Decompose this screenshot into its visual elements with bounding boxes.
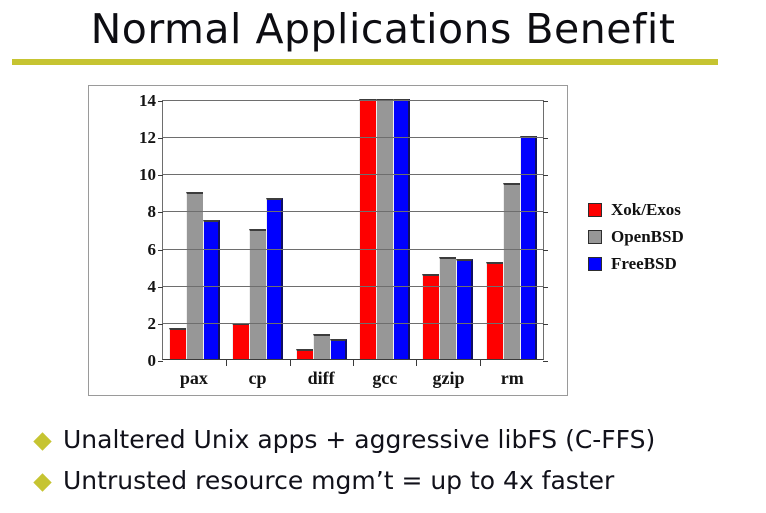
legend-item-freebsd[interactable]: FreeBSD	[588, 250, 763, 277]
bullet-list: Unaltered Unix apps + aggressive libFS (…	[36, 419, 756, 501]
chart-bar-slot	[359, 101, 376, 359]
chart-y-tick-mark	[158, 175, 163, 176]
chart-y-tick-mark-right	[543, 324, 548, 325]
chart-bar-slot	[520, 101, 537, 359]
chart-y-tick-label: 2	[148, 314, 157, 334]
chart-gridline	[163, 100, 543, 101]
chart-y-tick-mark	[158, 324, 163, 325]
title-block: Normal Applications Benefit	[0, 2, 766, 72]
chart-x-label-gcc: gcc	[353, 368, 417, 389]
chart-x-tick-mark	[226, 359, 227, 366]
chart-bar-group-rm	[480, 101, 543, 359]
chart-bar-pax-openbsd[interactable]	[186, 192, 203, 359]
chart-frame: 02468101214 paxcpdiffgccgziprm	[88, 85, 568, 396]
chart-y-tick-mark	[158, 287, 163, 288]
chart-bar-groups	[163, 101, 543, 359]
chart-bar-cp-freebsd[interactable]	[266, 198, 283, 359]
chart-y-tick-mark-right	[543, 138, 548, 139]
chart-x-label-gzip: gzip	[417, 368, 481, 389]
chart-legend: Xok/ExosOpenBSDFreeBSD	[588, 196, 763, 277]
chart-gridline	[163, 286, 543, 287]
legend-swatch-xok-exos	[588, 203, 602, 217]
chart-x-tick-mark	[353, 359, 354, 366]
chart-x-label-pax: pax	[162, 368, 226, 389]
chart-bar-group-diff	[290, 101, 353, 359]
chart-bar-gzip-openbsd[interactable]	[439, 257, 456, 359]
chart-y-tick-mark	[158, 250, 163, 251]
chart-bar-gzip-freebsd[interactable]	[456, 259, 473, 359]
chart-x-label-cp: cp	[226, 368, 290, 389]
chart-bar-slot	[313, 101, 330, 359]
chart-y-tick-label: 14	[139, 91, 156, 111]
page-title: Normal Applications Benefit	[0, 2, 766, 56]
chart-plot-area: 02468101214	[162, 100, 544, 360]
chart-bar-diff-freebsd[interactable]	[330, 339, 347, 359]
chart-bar-pax-xok-exos[interactable]	[169, 328, 186, 359]
chart-bar-diff-openbsd[interactable]	[313, 334, 330, 359]
chart-bar-slot	[486, 101, 503, 359]
legend-item-label: Xok/Exos	[611, 200, 681, 220]
chart-bar-group-cp	[226, 101, 289, 359]
chart-bar-group-gzip	[416, 101, 479, 359]
chart-bar-slot	[203, 101, 220, 359]
chart-bar-rm-openbsd[interactable]	[503, 183, 520, 359]
chart-bar-slot	[249, 101, 266, 359]
chart-y-tick-mark	[158, 101, 163, 102]
chart-x-tick-mark	[480, 359, 481, 366]
chart-x-tick-mark	[290, 359, 291, 366]
legend-item-xok-exos[interactable]: Xok/Exos	[588, 196, 763, 223]
chart-y-tick-mark-right	[543, 361, 548, 362]
chart-y-tick-label: 6	[148, 240, 157, 260]
chart-bar-slot	[266, 101, 283, 359]
chart-bar-cp-xok-exos[interactable]	[232, 323, 249, 359]
chart-y-tick-mark-right	[543, 250, 548, 251]
chart-y-tick-label: 8	[148, 202, 157, 222]
title-underline-rule	[12, 59, 718, 65]
chart-x-tick-mark	[416, 359, 417, 366]
legend-item-openbsd[interactable]: OpenBSD	[588, 223, 763, 250]
chart-gridline	[163, 137, 543, 138]
chart-gridline	[163, 323, 543, 324]
chart-y-tick-label: 12	[139, 128, 156, 148]
chart-y-tick-mark	[158, 138, 163, 139]
chart-bar-slot	[393, 101, 410, 359]
chart-gridline	[163, 211, 543, 212]
chart-y-tick-label: 10	[139, 165, 156, 185]
chart-bar-slot	[439, 101, 456, 359]
chart-bar-slot	[186, 101, 203, 359]
chart-y-tick-mark-right	[543, 101, 548, 102]
chart-bar-slot	[503, 101, 520, 359]
chart-bar-group-gcc	[353, 101, 416, 359]
chart-y-tick-label: 4	[148, 277, 157, 297]
legend-item-label: OpenBSD	[611, 227, 684, 247]
diamond-bullet-icon	[33, 432, 51, 450]
chart-x-axis-labels: paxcpdiffgccgziprm	[162, 368, 544, 389]
slide: Normal Applications Benefit 02468101214 …	[0, 0, 766, 513]
legend-swatch-openbsd	[588, 230, 602, 244]
chart-bar-group-pax	[163, 101, 226, 359]
bullet-item-text: Unaltered Unix apps + aggressive libFS (…	[63, 425, 655, 455]
chart-gridline	[163, 249, 543, 250]
chart-x-label-rm: rm	[480, 368, 544, 389]
chart-bar-slot	[456, 101, 473, 359]
chart-bar-diff-xok-exos[interactable]	[296, 349, 313, 359]
chart-bar-slot	[296, 101, 313, 359]
chart-y-tick-mark-right	[543, 212, 548, 213]
chart-bar-slot	[169, 101, 186, 359]
chart-bar-slot	[376, 101, 393, 359]
legend-item-label: FreeBSD	[611, 254, 677, 274]
bullet-item-text: Untrusted resource mgm’t = up to 4x fast…	[63, 466, 614, 496]
chart-bar-pax-freebsd[interactable]	[203, 220, 220, 359]
chart-bar-slot	[330, 101, 347, 359]
chart-y-tick-label: 0	[148, 351, 157, 371]
chart-bar-slot	[422, 101, 439, 359]
diamond-bullet-icon	[33, 473, 51, 491]
chart-y-tick-mark-right	[543, 175, 548, 176]
legend-swatch-freebsd	[588, 257, 602, 271]
chart-y-tick-mark	[158, 212, 163, 213]
chart-bar-rm-xok-exos[interactable]	[486, 262, 503, 359]
chart-y-tick-mark	[158, 361, 163, 362]
chart-bar-slot	[232, 101, 249, 359]
chart-gridline	[163, 174, 543, 175]
bullet-item-1: Unaltered Unix apps + aggressive libFS (…	[36, 419, 756, 460]
bullet-item-2: Untrusted resource mgm’t = up to 4x fast…	[36, 460, 756, 501]
chart-x-label-diff: diff	[289, 368, 353, 389]
chart-y-tick-mark-right	[543, 287, 548, 288]
